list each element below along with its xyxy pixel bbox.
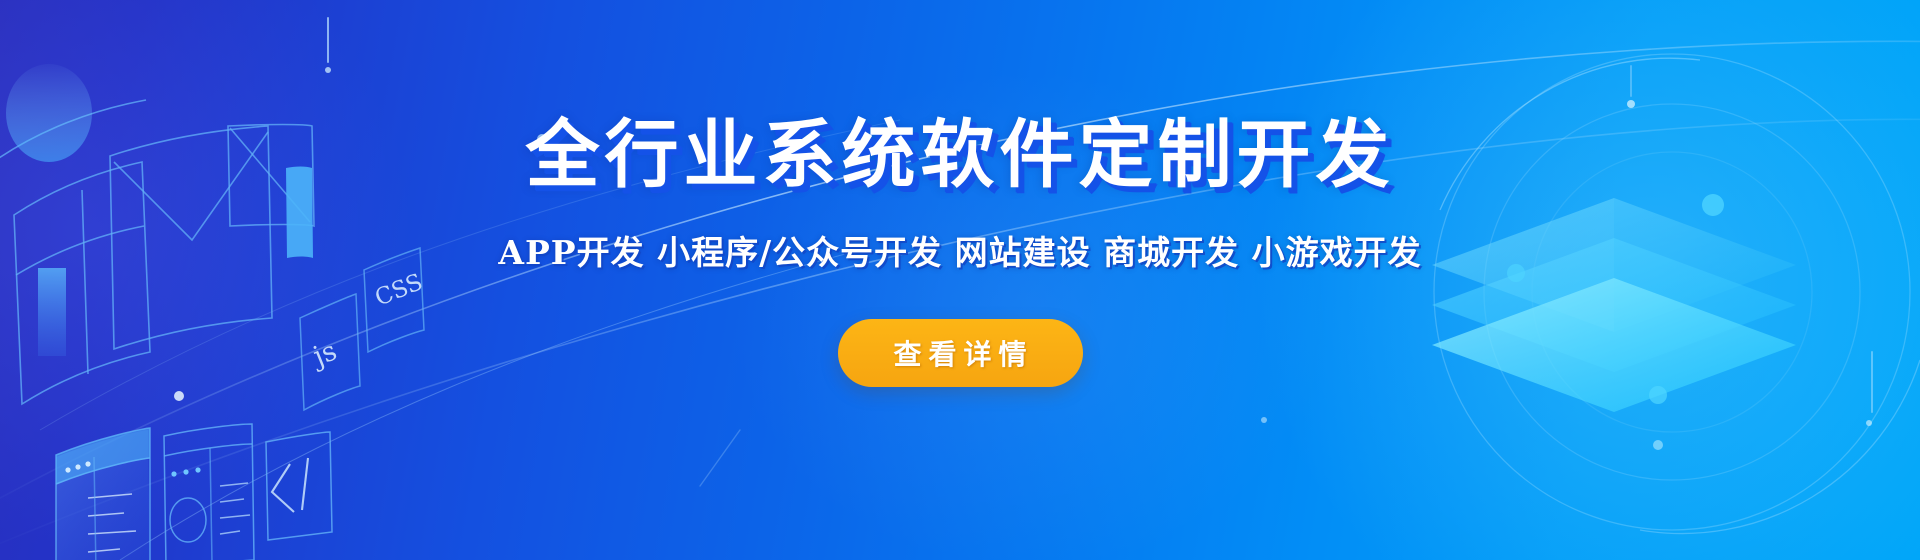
view-details-button[interactable]: 查看详情	[838, 319, 1083, 387]
banner-subtitle: APP开发 小程序/公众号开发 网站建设 商城开发 小游戏开发	[498, 226, 1421, 274]
banner-title: 全行业系统软件定制开发	[526, 118, 1395, 192]
banner-content: 全行业系统软件定制开发 APP开发 小程序/公众号开发 网站建设 商城开发 小游…	[0, 0, 1920, 560]
promo-banner: js CSS	[0, 0, 1920, 560]
